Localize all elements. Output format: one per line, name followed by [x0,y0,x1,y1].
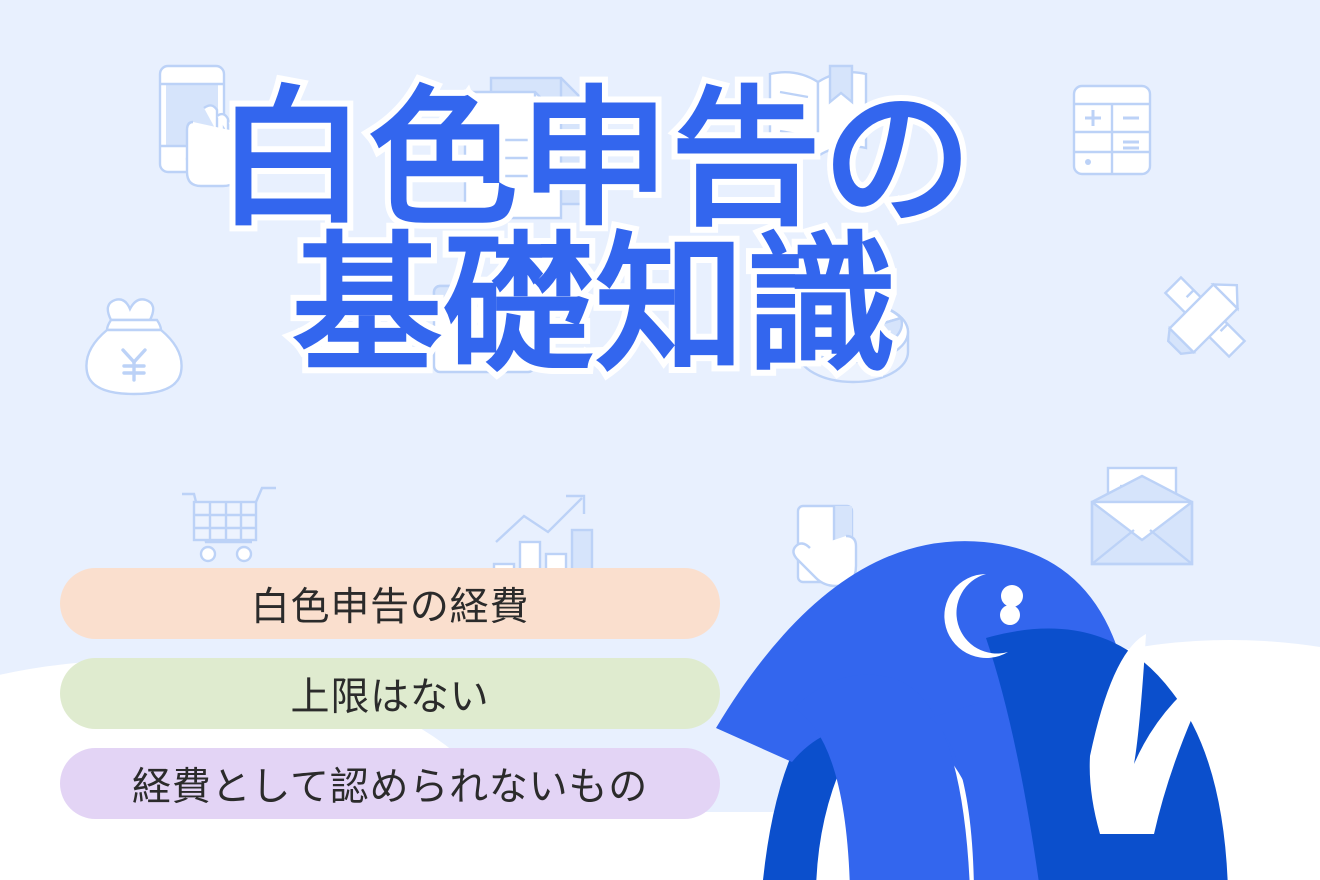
pie-chart-3d-icon [788,282,918,402]
topic-pill-2[interactable]: 上限はない [60,658,720,729]
money-bag-yen-icon [78,292,190,400]
open-book-icon [762,62,882,172]
penguin-mascot [700,470,1320,880]
penguin-eye-highlight-lower [1000,605,1020,625]
topic-pill-1[interactable]: 白色申告の経費 [60,568,720,639]
documents-icon [455,70,605,240]
topic-pill-3[interactable]: 経費として認められないもの [60,748,720,819]
topic-pill-3-label: 経費として認められないもの [132,756,648,812]
shopping-cart-icon [178,480,288,570]
topic-pill-2-label: 上限はない [291,666,490,722]
smartphone-hand-icon [138,60,268,210]
topic-pill-list: 白色申告の経費 上限はない 経費として認められないもの [60,568,720,819]
calculator-icon [1068,82,1158,178]
browser-window-icon [428,278,548,398]
penguin-eye-highlight-upper [1001,585,1023,607]
topic-pill-1-label: 白色申告の経費 [251,576,529,632]
banner-root: 白色申告の 基礎知識 白色申告の経費 上限はない 経費として認められないもの [0,0,1320,880]
ruler-pencil-icon [1150,262,1260,372]
